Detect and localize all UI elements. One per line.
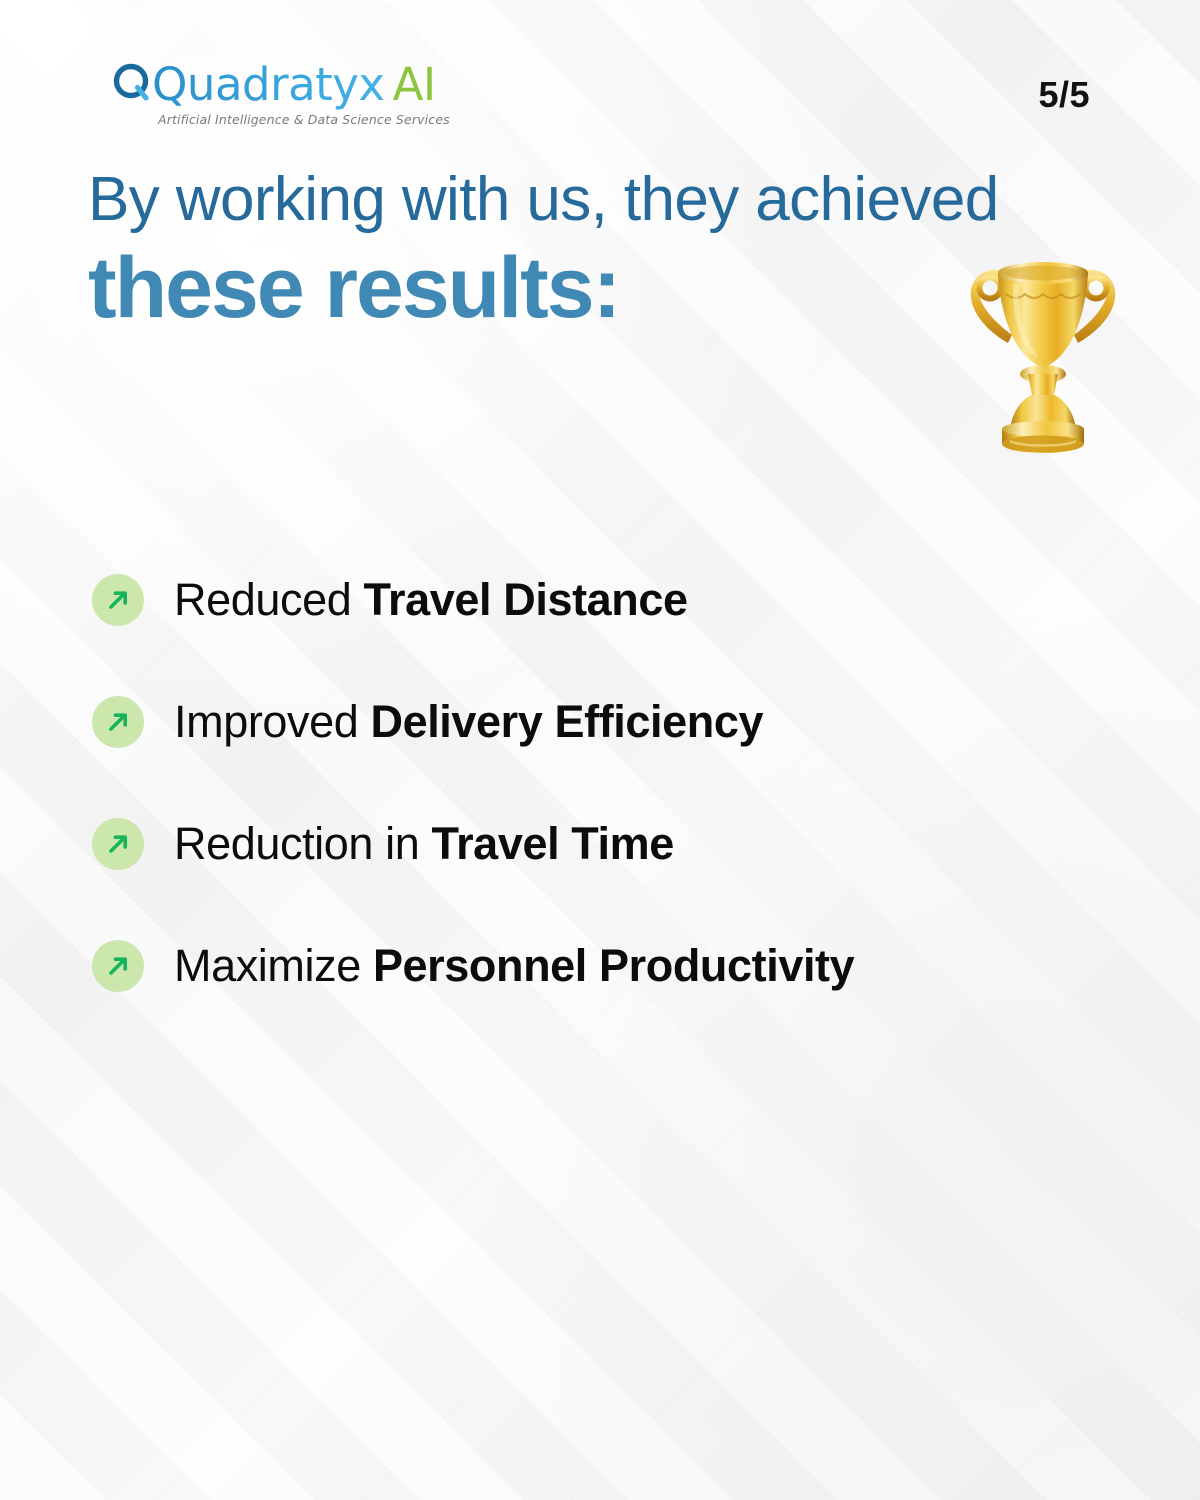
headline-line-1: By working with us, they achieved [88, 168, 1088, 231]
arrow-up-right-icon [92, 574, 144, 626]
list-item-emphasis: Delivery Efficiency [370, 696, 763, 747]
headline-block: By working with us, they achieved these … [88, 168, 1088, 334]
trophy-icon [968, 243, 1118, 465]
magnifier-q-icon [110, 61, 156, 107]
list-item-lead: Maximize [174, 940, 373, 991]
list-item-text: Maximize Personnel Productivity [174, 942, 854, 989]
brand-name-accent: AI [393, 58, 436, 111]
slide-header: QuadratyxAI Artificial Intelligence & Da… [110, 58, 1090, 130]
list-item-lead: Reduction in [174, 818, 431, 869]
brand-wordmark: QuadratyxAI [152, 62, 436, 107]
brand-tagline: Artificial Intelligence & Data Science S… [158, 112, 450, 127]
brand-logo[interactable]: QuadratyxAI Artificial Intelligence & Da… [110, 58, 450, 127]
brand-name-primary: Quadratyx [152, 58, 385, 111]
list-item-lead: Reduced [174, 574, 363, 625]
brand-logo-row: QuadratyxAI [110, 58, 450, 110]
results-list: Reduced Travel Distance Improved Deliver… [92, 562, 1132, 1004]
page-indicator: 5/5 [1038, 74, 1090, 116]
list-item-text: Reduction in Travel Time [174, 820, 674, 867]
slide-canvas: QuadratyxAI Artificial Intelligence & Da… [0, 0, 1200, 1500]
list-item-emphasis: Travel Distance [363, 574, 687, 625]
arrow-up-right-icon [92, 696, 144, 748]
list-item-text: Improved Delivery Efficiency [174, 698, 763, 745]
list-item: Maximize Personnel Productivity [92, 928, 1132, 1004]
list-item: Reduced Travel Distance [92, 562, 1132, 638]
arrow-up-right-icon [92, 818, 144, 870]
list-item-emphasis: Travel Time [431, 818, 673, 869]
list-item: Reduction in Travel Time [92, 806, 1132, 882]
list-item-emphasis: Personnel Productivity [373, 940, 854, 991]
headline-line-2: these results: [88, 243, 1088, 333]
list-item-text: Reduced Travel Distance [174, 576, 688, 623]
list-item: Improved Delivery Efficiency [92, 684, 1132, 760]
list-item-lead: Improved [174, 696, 370, 747]
arrow-up-right-icon [92, 940, 144, 992]
